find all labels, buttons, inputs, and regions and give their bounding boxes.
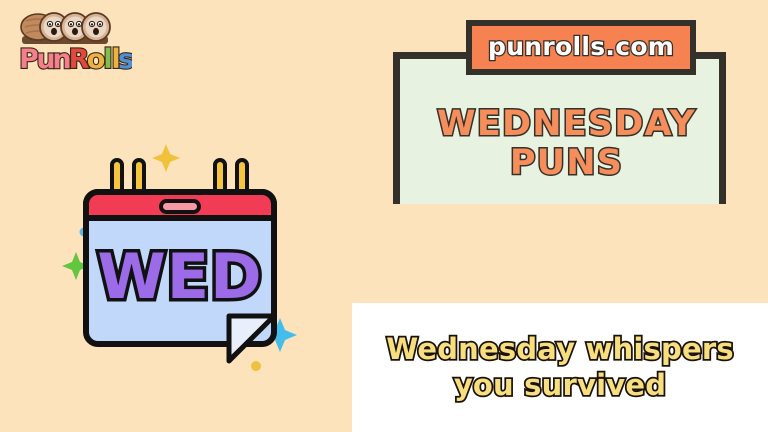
- brand-wordmark: P u n R o l l s: [19, 44, 132, 75]
- calendar-hanger-slot: [161, 201, 199, 212]
- site-url-tag[interactable]: punrolls.com: [466, 20, 696, 75]
- three-rolls-with-faces-icon: [21, 13, 110, 44]
- brand-logo[interactable]: P u n R o l l s: [12, 6, 132, 78]
- calendar-day-label: WED: [97, 240, 262, 313]
- wednesday-calendar-illustration: WED: [60, 140, 320, 400]
- caption-panel: Wednesday whispers you survived: [352, 303, 768, 432]
- banner-heading: WEDNESDAY PUNS: [400, 105, 733, 183]
- caption-text: Wednesday whispers you survived: [362, 332, 758, 403]
- dot-yellow-bottom: [251, 361, 261, 371]
- poster-canvas: P u n R o l l s WEDNESDAY PUNS punrolls.…: [0, 0, 768, 432]
- sparkle-gold-top: [152, 144, 180, 172]
- wednesday-puns-banner: WEDNESDAY PUNS punrolls.com: [393, 52, 726, 204]
- svg-text:s: s: [118, 44, 132, 75]
